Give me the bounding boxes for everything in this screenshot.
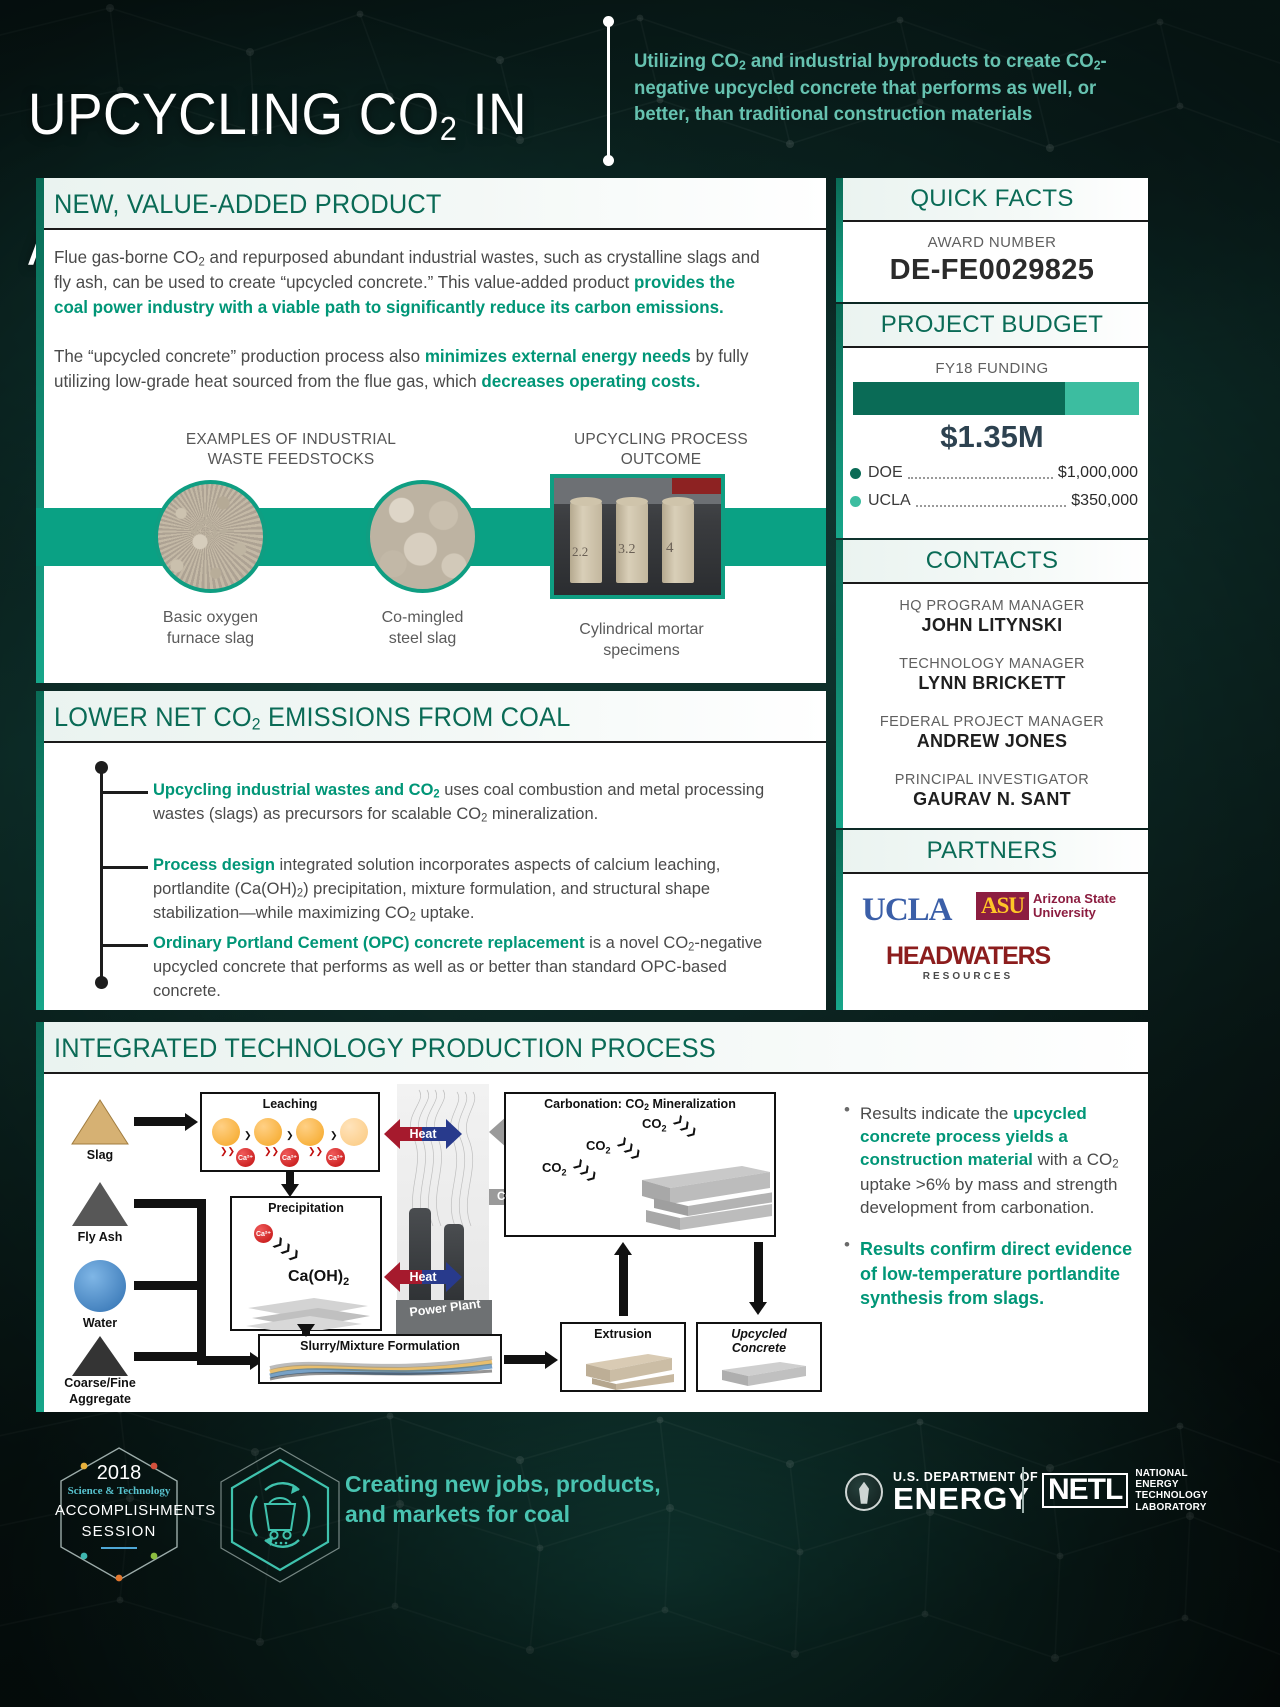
contact-principal-investigator: PRINCIPAL INVESTIGATOR GAURAV N. SANT — [836, 772, 1148, 810]
ibeam-3d-icon — [624, 1154, 772, 1234]
input-label-aggregate: Coarse/Fine Aggregate — [52, 1376, 148, 1407]
award-number-label: AWARD NUMBER — [836, 234, 1148, 251]
quick-facts-heading: QUICK FACTS — [910, 185, 1073, 213]
emissions-section-heading: LOWER NET CO2 EMISSIONS FROM COAL — [54, 702, 780, 734]
image-basic-oxygen-furnace-slag — [154, 480, 267, 593]
contact-name: ANDREW JONES — [836, 731, 1148, 752]
connector-extrusion-to-carbonation — [619, 1254, 628, 1316]
product-paragraph-2: The “upcycled concrete” production proce… — [54, 344, 768, 394]
budget-total-value: $1.35M — [836, 419, 1148, 455]
process-box-carbonation: Carbonation: CO2 Mineralization CO2 ❯❯❯ … — [504, 1092, 776, 1237]
timeline-tick — [100, 791, 148, 794]
feed-arrow-slag — [134, 1117, 186, 1126]
feed-riser-vertical — [197, 1199, 206, 1364]
leaching-title: Leaching — [202, 1097, 378, 1111]
coal-cart-hexagon-icon — [215, 1444, 345, 1586]
contact-role: PRINCIPAL INVESTIGATOR — [836, 772, 1148, 788]
process-box-leaching: Leaching ❯ ❯ ❯ Ca²⁺ Ca²⁺ Ca²⁺ ❯❯ ❯❯ ❯❯ — [200, 1092, 380, 1172]
water-circle-icon — [74, 1260, 126, 1312]
connector-slurry-to-extrusion — [504, 1355, 546, 1364]
panel-header: LOWER NET CO2 EMISSIONS FROM COAL — [36, 691, 826, 743]
badge-accomplishments: ACCOMPLISHMENTS — [55, 1502, 183, 1519]
budget-bar-segment-doe — [853, 382, 1065, 415]
arrow-head-icon — [545, 1351, 558, 1369]
headwaters-subtext: RESOURCES — [886, 971, 1050, 982]
result-bullet-2: Results confirm direct evidence of low-t… — [842, 1237, 1134, 1309]
precipitation-title: Precipitation — [232, 1201, 380, 1215]
process-box-slurry: Slurry/Mixture Formulation — [258, 1334, 502, 1384]
precipitation-formula: Ca(OH)2 — [288, 1268, 349, 1288]
image-cylindrical-mortar-specimens: 2.2 3.2 4 — [550, 474, 725, 599]
upcycled-beam-icon — [714, 1358, 810, 1390]
contacts-panel: CONTACTS HQ PROGRAM MANAGER JOHN LITYNSK… — [836, 540, 1148, 828]
footer-logo-separator — [1022, 1467, 1024, 1513]
contacts-heading: CONTACTS — [926, 547, 1059, 575]
input-label-slag: Slag — [60, 1148, 140, 1162]
image-comingled-steel-slag — [366, 480, 479, 593]
panel-header: QUICK FACTS — [836, 178, 1148, 222]
air-label: Air — [489, 1116, 557, 1148]
badge-science-technology: Science & Technology — [55, 1485, 183, 1497]
coal-cart-icon — [215, 1444, 345, 1586]
panel-accent-edge — [36, 1022, 44, 1412]
quick-facts-panel: QUICK FACTS AWARD NUMBER DE-FE0029825 — [836, 178, 1148, 302]
label-cylindrical-mortar-specimens: Cylindrical mortarspecimens — [554, 620, 729, 662]
headwaters-wordmark: HEADWATERS — [886, 942, 1050, 971]
smoke-plume-icon — [397, 1088, 489, 1228]
contact-role: FEDERAL PROJECT MANAGER — [836, 714, 1148, 730]
process-flow-diagram: Power Plant Slag Fly Ash Water Coarse/Fi… — [52, 1084, 822, 1396]
process-box-extrusion: Extrusion — [560, 1322, 686, 1392]
timeline-tick — [100, 944, 148, 947]
netl-wordmark: NATIONALENERGYTECHNOLOGYLABORATORY — [1135, 1468, 1208, 1513]
process-box-upcycled-concrete: UpcycledConcrete — [696, 1322, 822, 1392]
header-divider-rule — [607, 22, 610, 160]
panel-header: PARTNERS — [836, 830, 1148, 874]
calcium-ion-icon: Ca²⁺ — [326, 1148, 345, 1167]
ucla-logo: UCLA — [862, 892, 952, 929]
co2-arrow: CO2 — [489, 1180, 557, 1214]
budget-bar-chart — [853, 382, 1139, 415]
label-basic-oxygen-furnace-slag: Basic oxygenfurnace slag — [128, 608, 293, 650]
netl-mark: NETL — [1042, 1473, 1128, 1508]
headwaters-resources-logo: HEADWATERS RESOURCES — [886, 942, 1050, 982]
co2-label: CO2 — [489, 1180, 557, 1214]
header-subtitle: Utilizing CO2 and industrial byproducts … — [634, 48, 1128, 128]
poster-footer: 2018 Science & Technology ACCOMPLISHMENT… — [0, 1412, 1280, 1707]
badge-session: SESSION — [55, 1523, 183, 1540]
calcium-ion-icon: Ca²⁺ — [280, 1148, 299, 1167]
result-bullet-1: Results indicate the upcycled concrete p… — [842, 1102, 1134, 1219]
process-results-list: Results indicate the upcycled concrete p… — [842, 1102, 1134, 1328]
title-line-1: UPCYCLING CO2 IN — [28, 82, 527, 147]
result-strong-text: Results confirm direct evidence of low-t… — [860, 1237, 1134, 1309]
feed-arrow-fly-ash — [134, 1199, 204, 1208]
legend-leader-line — [908, 468, 1053, 479]
label-comingled-steel-slag: Co-mingledsteel slag — [340, 608, 505, 650]
caption-feedstocks: EXAMPLES OF INDUSTRIALWASTE FEEDSTOCKS — [146, 430, 436, 470]
partners-panel: PARTNERS UCLA ASU Arizona StateUniversit… — [836, 830, 1148, 1010]
process-box-precipitation: Precipitation Ca²⁺ ❯❯❯ Ca(OH)2 — [230, 1196, 382, 1331]
legend-leader-line — [916, 496, 1067, 507]
feed-arrow-to-slurry — [197, 1356, 252, 1365]
connector-carbonation-to-upcycled — [754, 1242, 763, 1304]
upcycled-title: UpcycledConcrete — [698, 1327, 820, 1356]
award-number-value: DE-FE0029825 — [836, 254, 1148, 287]
heat-label: Heat — [384, 1260, 462, 1294]
product-paragraph-1: Flue gas-borne CO2 and repurposed abunda… — [54, 245, 768, 320]
feed-arrow-water — [134, 1281, 204, 1290]
emissions-bullet-2: Process design integrated solution incor… — [153, 853, 788, 926]
input-label-fly-ash: Fly Ash — [60, 1230, 140, 1244]
new-value-added-product-panel: NEW, VALUE-ADDED PRODUCT Flue gas-borne … — [36, 178, 826, 683]
calcium-ion-icon: Ca²⁺ — [236, 1148, 255, 1167]
calcium-ion-icon: Ca²⁺ — [254, 1224, 273, 1243]
legend-dot-ucla — [850, 496, 861, 507]
process-section-heading: INTEGRATED TECHNOLOGY PRODUCTION PROCESS — [54, 1033, 1082, 1064]
arrow-head-icon — [614, 1242, 632, 1255]
arrow-head-icon — [185, 1113, 198, 1131]
aggregate-triangle-icon — [70, 1334, 130, 1378]
air-arrow: Air — [489, 1116, 557, 1148]
emissions-bullet-1: Upcycling industrial wastes and CO2 uses… — [153, 778, 788, 827]
heat-arrow-leaching: Heat — [384, 1117, 462, 1151]
legend-label-doe: DOE — [868, 464, 903, 482]
input-label-water: Water — [60, 1316, 140, 1330]
partners-heading: PARTNERS — [927, 837, 1058, 865]
slurry-title: Slurry/Mixture Formulation — [260, 1339, 500, 1353]
product-section-heading: NEW, VALUE-ADDED PRODUCT — [54, 189, 780, 220]
panel-header: PROJECT BUDGET — [836, 304, 1148, 348]
extruded-beam-icon — [576, 1348, 676, 1390]
badge-underline-decoration — [101, 1547, 137, 1549]
contact-federal-project-manager: FEDERAL PROJECT MANAGER ANDREW JONES — [836, 714, 1148, 752]
heat-arrow-precipitation: Heat — [384, 1260, 462, 1294]
contact-name: GAURAV N. SANT — [836, 789, 1148, 810]
budget-bar-segment-ucla — [1065, 382, 1139, 415]
panel-header: CONTACTS — [836, 540, 1148, 584]
asu-mark: ASU — [976, 892, 1029, 920]
contact-hq-program-manager: HQ PROGRAM MANAGER JOHN LITYNSKI — [836, 598, 1148, 636]
integrated-technology-process-panel: INTEGRATED TECHNOLOGY PRODUCTION PROCESS… — [36, 1022, 1148, 1412]
feed-arrow-aggregate — [134, 1352, 204, 1361]
slag-triangle-icon — [70, 1098, 130, 1146]
legend-label-ucla: UCLA — [868, 492, 911, 510]
arrow-head-icon — [297, 1324, 315, 1337]
heat-label: Heat — [384, 1117, 462, 1151]
doe-logo: U.S. DEPARTMENT OF ENERGY — [845, 1470, 1038, 1513]
project-budget-heading: PROJECT BUDGET — [881, 311, 1103, 339]
timeline-spine-decoration — [100, 769, 103, 981]
carbonation-title: Carbonation: CO2 Mineralization — [506, 1097, 774, 1112]
badge-year: 2018 — [55, 1462, 183, 1485]
contact-name: JOHN LITYNSKI — [836, 615, 1148, 636]
doe-seal-icon — [845, 1473, 883, 1511]
extrusion-title: Extrusion — [562, 1327, 684, 1341]
contact-technology-manager: TECHNOLOGY MANAGER LYNN BRICKETT — [836, 656, 1148, 694]
panel-accent-edge — [836, 830, 843, 1010]
asu-logo: ASU Arizona StateUniversity — [976, 892, 1116, 920]
accomplishments-session-badge: 2018 Science & Technology ACCOMPLISHMENT… — [55, 1444, 183, 1584]
legend-value-ucla: $350,000 — [1071, 492, 1138, 510]
arrow-head-icon — [749, 1302, 767, 1315]
feedstock-image-row: EXAMPLES OF INDUSTRIALWASTE FEEDSTOCKS U… — [36, 436, 826, 616]
asu-wordmark: Arizona StateUniversity — [1033, 892, 1116, 920]
contact-name: LYNN BRICKETT — [836, 673, 1148, 694]
project-budget-panel: PROJECT BUDGET FY18 FUNDING $1.35M DOE $… — [836, 304, 1148, 538]
panel-header: NEW, VALUE-ADDED PRODUCT — [36, 178, 826, 230]
panel-accent-edge — [36, 691, 44, 1010]
doe-energy-wordmark: ENERGY — [893, 1484, 1038, 1513]
contact-role: HQ PROGRAM MANAGER — [836, 598, 1148, 614]
legend-value-doe: $1,000,000 — [1058, 464, 1138, 482]
panel-header: INTEGRATED TECHNOLOGY PRODUCTION PROCESS — [36, 1022, 1148, 1074]
poster-header: UPCYCLING CO2 IN A NOVEL CONCRETE Utiliz… — [0, 0, 1280, 172]
lower-net-emissions-panel: LOWER NET CO2 EMISSIONS FROM COAL Upcycl… — [36, 691, 826, 1010]
legend-dot-doe — [850, 468, 861, 479]
netl-logo: NETL NATIONALENERGYTECHNOLOGYLABORATORY — [1042, 1468, 1208, 1513]
timeline-tick — [100, 866, 148, 869]
footer-tagline: Creating new jobs, products, and markets… — [345, 1470, 661, 1530]
emissions-bullet-3: Ordinary Portland Cement (OPC) concrete … — [153, 931, 788, 1003]
slurry-mixture-graphic — [268, 1354, 494, 1382]
contact-role: TECHNOLOGY MANAGER — [836, 656, 1148, 672]
fy-funding-label: FY18 FUNDING — [836, 360, 1148, 377]
caption-outcome: UPCYCLING PROCESSOUTCOME — [536, 430, 786, 470]
budget-legend-row-ucla: UCLA $350,000 — [850, 490, 1138, 512]
budget-legend-row-doe: DOE $1,000,000 — [850, 462, 1138, 484]
fly-ash-triangle-icon — [70, 1180, 130, 1228]
